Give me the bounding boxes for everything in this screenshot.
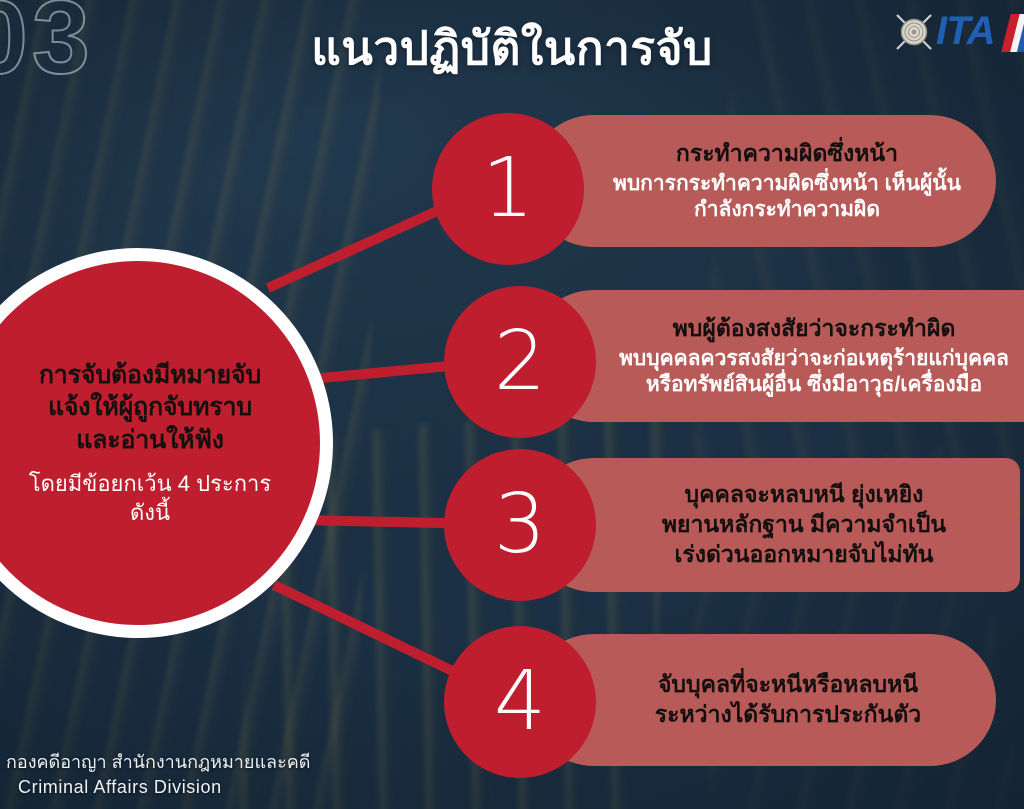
hub-title: การจับต้องมีหมายจับ แจ้งให้ผู้ถูกจับทราบ… (39, 359, 261, 457)
item-1-title: กระทำความผิดซึ่งหน้า (676, 139, 898, 167)
item-2-body-line: พบบุคคลควรสงสัยว่าจะก่อเหตุร้ายแก่บุคคล (619, 346, 1009, 372)
item-2-body-line: หรือทรัพย์สินผู้อื่น ซึ่งมีอาวุธ/เครื่อง… (619, 372, 1009, 398)
item-3-number-badge: 3 (444, 449, 596, 601)
item-4-title: จับบุคลที่จะหนีหรือหลบหนี ระหว่างได้รับก… (655, 670, 921, 730)
item-3-title-line: เร่งด่วนออกหมายจับไม่ทัน (662, 540, 946, 570)
hub-subtitle: โดยมีข้อยกเว้น 4 ประการ ดังนี้ (29, 469, 271, 527)
footer-thai: กองคดีอาญา สำนักงานกฎหมายและคดี (6, 750, 311, 776)
item-4-title-line: จับบุคลที่จะหนีหรือหลบหนี (655, 670, 921, 700)
hub-subtitle-line: โดยมีข้อยกเว้น 4 ประการ (29, 469, 271, 498)
item-2-pill: พบผู้ต้องสงสัยว่าจะกระทำผิด พบบุคคลควรสง… (528, 290, 1024, 422)
ita-wordmark: ITA (936, 8, 994, 54)
hub-title-line: การจับต้องมีหมายจับ (39, 359, 261, 392)
item-4-number-badge: 4 (444, 626, 596, 778)
footer: กองคดีอาญา สำนักงานกฎหมายและคดี Criminal… (6, 750, 311, 801)
item-3-title: บุคคลจะหลบหนี ยุ่งเหยิง พยานหลักฐาน มีคว… (662, 480, 946, 570)
item-2-body: พบบุคคลควรสงสัยว่าจะก่อเหตุร้ายแก่บุคคล … (619, 346, 1009, 399)
item-2-title: พบผู้ต้องสงสัยว่าจะกระทำผิด (673, 314, 956, 342)
item-2-number-badge: 2 (444, 286, 596, 438)
flag-stripe-icon (1001, 14, 1024, 52)
item-4-pill: จับบุคลที่จะหนีหรือหลบหนี ระหว่างได้รับก… (528, 634, 996, 766)
item-3-title-line: บุคคลจะหลบหนี ยุ่งเหยิง (662, 480, 946, 510)
item-4-title-line: ระหว่างได้รับการประกันตัว (655, 700, 921, 730)
item-1-body: พบการกระทำความผิดซึ่งหน้า เห็นผู้นั้น กำ… (613, 171, 961, 224)
hub-title-line: แจ้งให้ผู้ถูกจับทราบ (39, 391, 261, 424)
page-title: แนวปฏิบัติในการจับ (0, 12, 1024, 85)
infographic-slide: 03 แนวปฏิบัติในการจับ ITA การจับต้องมีหม… (0, 0, 1024, 809)
item-3-pill: บุคคลจะหลบหนี ยุ่งเหยิง พยานหลักฐาน มีคว… (528, 458, 1020, 592)
footer-english: Criminal Affairs Division (6, 775, 311, 801)
item-3-title-line: พยานหลักฐาน มีความจำเป็น (662, 510, 946, 540)
hub-subtitle-line: ดังนี้ (29, 498, 271, 527)
police-seal-icon (894, 12, 934, 52)
item-1-body-line: พบการกระทำความผิดซึ่งหน้า เห็นผู้นั้น (613, 171, 961, 197)
item-1-body-line: กำลังกระทำความผิด (613, 197, 961, 223)
item-1-pill: กระทำความผิดซึ่งหน้า พบการกระทำความผิดซึ… (528, 115, 996, 247)
ita-logo: ITA (880, 6, 1024, 60)
item-1-number-badge: 1 (432, 113, 584, 265)
hub-title-line: และอ่านให้ฟัง (39, 424, 261, 457)
